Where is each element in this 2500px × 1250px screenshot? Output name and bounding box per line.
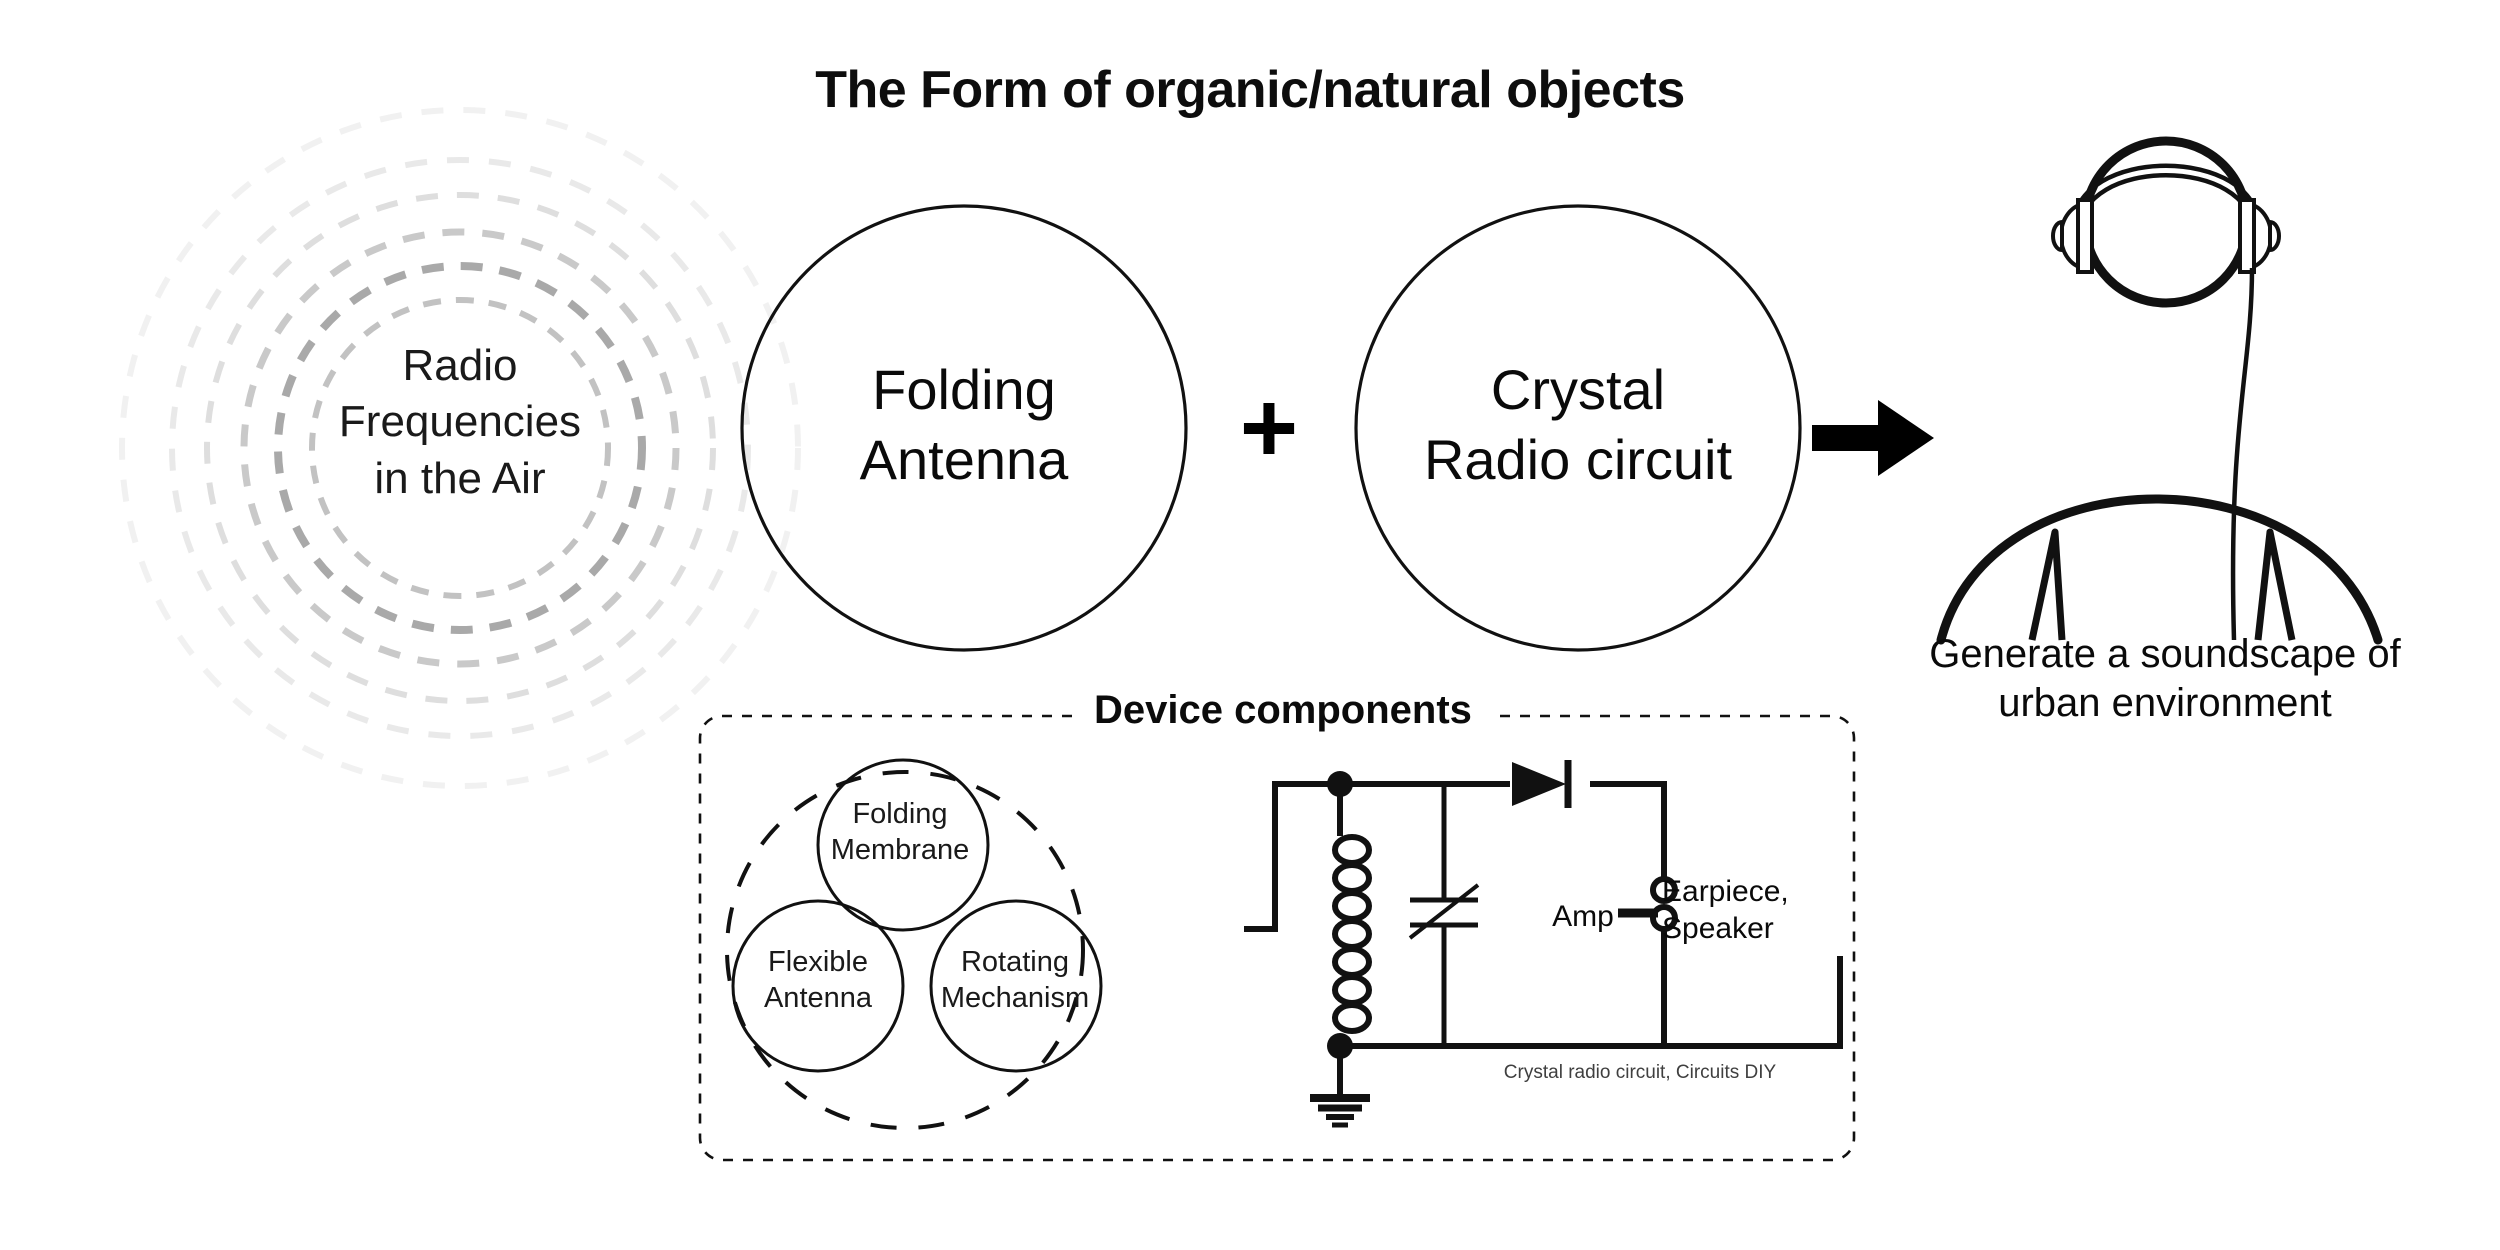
headphone-band-inner — [2079, 175, 2253, 233]
diode-symbol — [1512, 760, 1568, 808]
diagram-canvas: The Form of organic/natural objects Radi… — [0, 0, 2500, 1250]
outcome-caption-line-1: Generate a soundscape of — [1900, 630, 2430, 679]
folding-membrane-line-2: Membrane — [800, 832, 1000, 868]
radio-waves-label: Radio Frequencies in the Air — [250, 338, 670, 507]
flexible-antenna-line-1: Flexible — [720, 944, 916, 980]
circuit-source-caption: Crystal radio circuit, Circuits DIY — [1480, 1062, 1800, 1084]
page-title: The Form of organic/natural objects — [0, 60, 2500, 120]
plus-operator: + — [1224, 378, 1314, 478]
outcome-caption: Generate a soundscape of urban environme… — [1900, 630, 2430, 728]
folding-membrane-label: Folding Membrane — [800, 796, 1000, 869]
headphone-cup-left — [2053, 200, 2092, 272]
folding-membrane-line-1: Folding — [800, 796, 1000, 832]
radio-waves-label-line-2: Frequencies — [250, 394, 670, 450]
person-with-headphones-icon — [1941, 141, 2378, 640]
folding-antenna-line-2: Antenna — [744, 425, 1184, 495]
person-shoulders — [1941, 499, 2378, 640]
rotating-mechanism-line-2: Mechanism — [910, 980, 1120, 1016]
crystal-radio-line-2: Radio circuit — [1358, 425, 1798, 495]
folding-antenna-label: Folding Antenna — [744, 355, 1184, 495]
rotating-mechanism-label: Rotating Mechanism — [910, 944, 1120, 1017]
flexible-antenna-label: Flexible Antenna — [720, 944, 916, 1017]
crystal-radio-line-1: Crystal — [1358, 355, 1798, 425]
amp-label: Amp — [1538, 900, 1628, 934]
top-bus-right — [1590, 784, 1664, 880]
headphone-cup-right — [2240, 200, 2279, 272]
bottom-rail — [1340, 956, 1840, 1046]
device-components-heading: Device components — [1080, 688, 1486, 733]
radio-waves-label-line-3: in the Air — [250, 451, 670, 507]
rotating-mechanism-line-1: Rotating — [910, 944, 1120, 980]
ground-symbol — [1310, 1046, 1370, 1125]
radio-waves-label-line-1: Radio — [250, 338, 670, 394]
earpiece-speaker-line-1: Earpiece, — [1662, 874, 1842, 911]
earpiece-speaker-line-2: Speaker — [1662, 911, 1842, 948]
person-collar-right — [2258, 532, 2292, 640]
outcome-caption-line-2: urban environment — [1900, 679, 2430, 728]
junction-dot-top — [1327, 771, 1353, 797]
diagram-vector-layer — [0, 0, 2500, 1250]
headphone-cable — [2233, 268, 2252, 640]
flexible-antenna-line-2: Antenna — [720, 980, 916, 1016]
antenna-lead — [1244, 784, 1340, 929]
person-collar-left — [2032, 532, 2062, 640]
crystal-radio-label: Crystal Radio circuit — [1358, 355, 1798, 495]
folding-antenna-line-1: Folding — [744, 355, 1184, 425]
earpiece-speaker-label: Earpiece, Speaker — [1662, 874, 1842, 947]
right-arrow-icon — [1812, 400, 1934, 476]
inductor-coil — [1335, 837, 1369, 1031]
